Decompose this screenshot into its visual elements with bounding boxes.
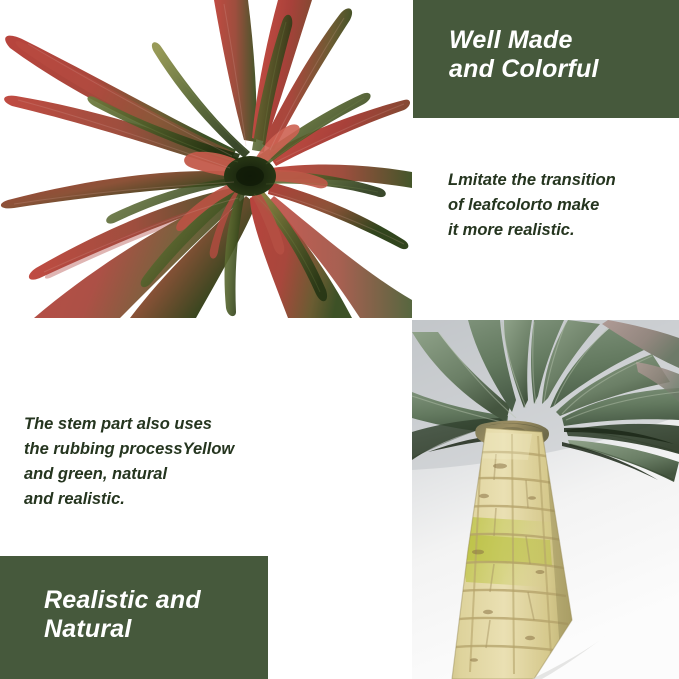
plant-stem-illustration — [412, 320, 679, 679]
feature-text-stem-process: The stem part also uses the rubbing proc… — [24, 412, 274, 512]
heading-realistic-and-natural: Realistic and Natural — [44, 586, 201, 644]
product-infographic: Well Made and Colorful Lmitate the trans… — [0, 0, 679, 679]
heading-well-made-and-colorful: Well Made and Colorful — [449, 26, 599, 84]
heading-panel-bottom: Realistic and Natural — [0, 556, 268, 679]
heading-panel-top: Well Made and Colorful — [413, 0, 679, 118]
feature-text-leaf-color: Lmitate the transition of leafcolorto ma… — [448, 168, 673, 243]
photo-plant-stem — [412, 320, 679, 679]
photo-plant-rosette — [0, 0, 412, 318]
plant-rosette-illustration — [0, 0, 412, 318]
